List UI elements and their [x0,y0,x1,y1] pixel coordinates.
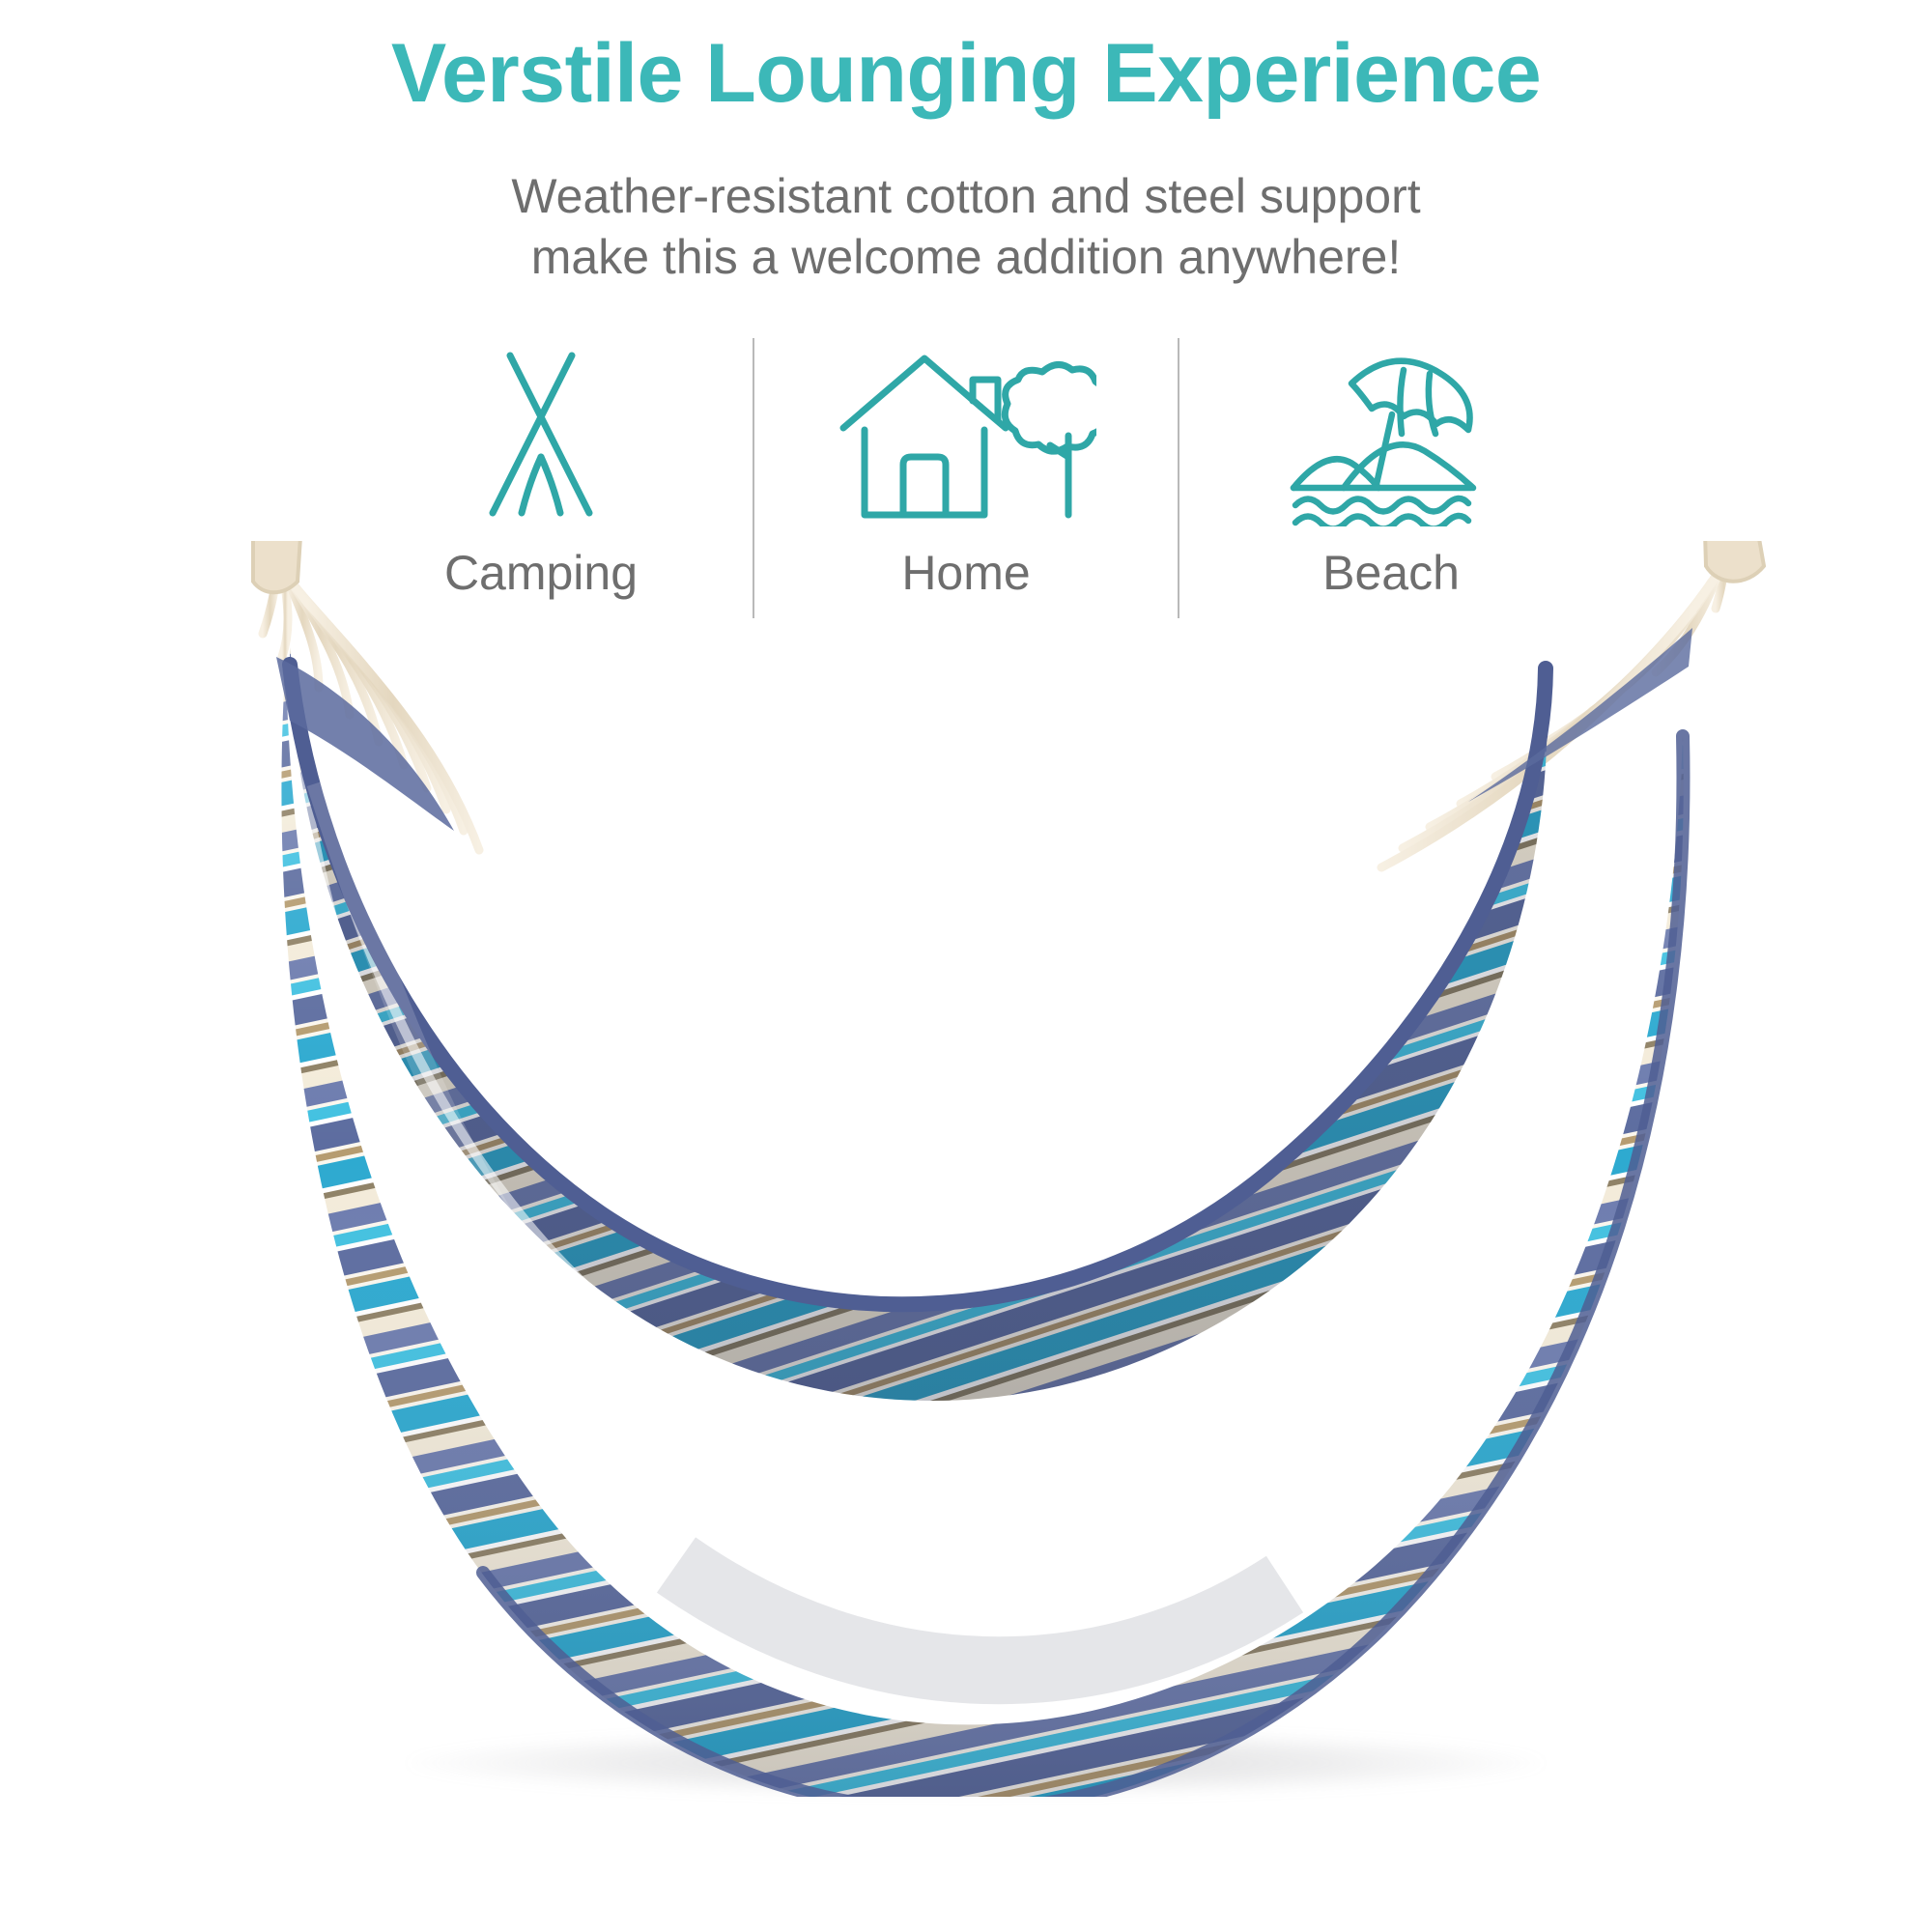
right-rope-loop [1700,541,1801,582]
page-subtitle: Weather-resistant cotton and steel suppo… [0,166,1932,288]
beach-umbrella-icon [1288,338,1495,531]
teepee-icon [444,338,638,531]
hammock-fabric [281,647,1683,1797]
hammock-bed [281,657,1683,1797]
hammock-illustration [0,541,1932,1797]
left-rope-loop [240,541,305,592]
page-subtitle-line-2: make this a welcome addition anywhere! [0,227,1932,288]
page-subtitle-line-1: Weather-resistant cotton and steel suppo… [0,166,1932,227]
product-image [0,541,1932,1797]
product-feature-image: Verstile Lounging Experience Weather-res… [0,0,1932,1932]
house-tree-icon [836,338,1096,531]
page-title: Verstile Lounging Experience [0,29,1932,119]
